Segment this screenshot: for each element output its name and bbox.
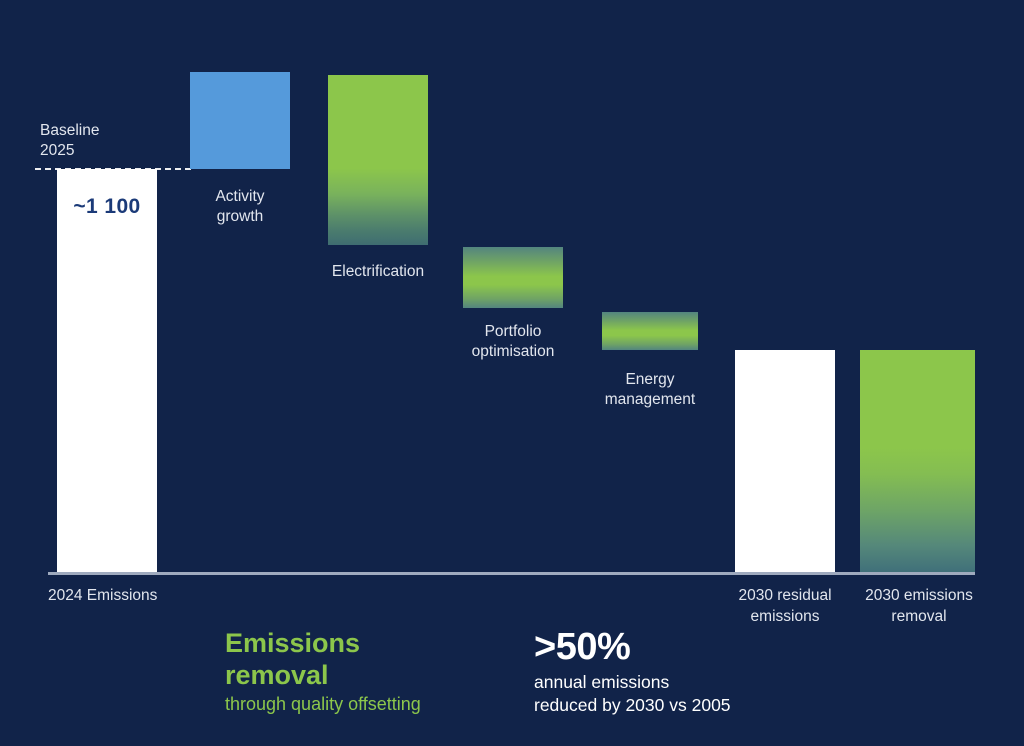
axis-label-2024-emissions: 2024 Emissions [48,586,268,607]
bar-label-activity-growth: Activity growth [180,187,300,228]
bar-electrification[interactable] [328,75,428,245]
waterfall-chart: Baseline 2025 ~1 100 Activity growth Ele… [0,0,1024,620]
callout-emissions-removal: Emissions removal through quality offset… [225,628,495,717]
callout-reduction-headline: >50% [534,628,834,668]
bar-2030-emissions-removal[interactable] [860,350,975,572]
baseline-2025-annotation: Baseline 2025 [40,121,99,162]
callout-reduction-subtext: annual emissions reduced by 2030 vs 2005 [534,671,834,717]
callout-reduction: >50% annual emissions reduced by 2030 vs… [534,628,834,717]
bar-2024-emissions[interactable] [57,169,157,572]
bar-label-energy-management: Energy management [585,370,715,411]
slide-canvas: Baseline 2025 ~1 100 Activity growth Ele… [0,0,1024,746]
callout-emissions-removal-headline: Emissions removal [225,628,495,691]
bar-2030-residual-emissions[interactable] [735,350,835,572]
bar-activity-growth[interactable] [190,72,290,169]
footer-callouts: Emissions removal through quality offset… [0,620,1024,746]
bar-label-portfolio-optimisation: Portfolio optimisation [448,322,578,363]
bar-value-2024-emissions: ~1 100 [57,195,157,219]
bar-label-electrification: Electrification [318,262,438,282]
bar-energy-management[interactable] [602,312,698,350]
callout-emissions-removal-subtext: through quality offsetting [225,693,495,716]
bar-portfolio-optimisation[interactable] [463,247,563,308]
chart-axis-line [48,572,975,575]
